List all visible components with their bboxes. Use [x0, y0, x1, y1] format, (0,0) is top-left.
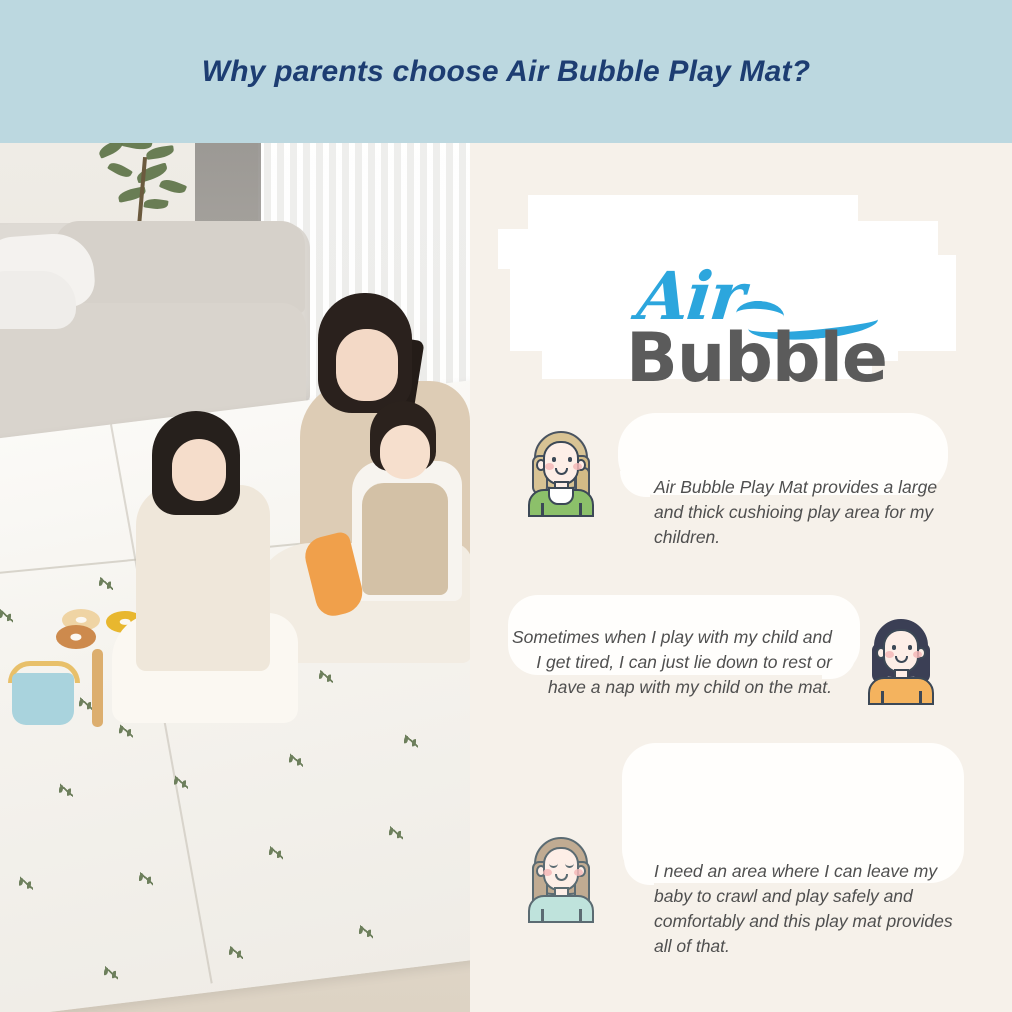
testimonial-2: Sometimes when I play with my child and …: [470, 595, 1012, 735]
avatar-1: [528, 429, 594, 515]
infographic-page: Why parents choose Air Bubble Play Mat?: [0, 0, 1012, 1012]
testimonial-1-quote: Air Bubble Play Mat provides a large and…: [654, 475, 960, 550]
photo-toy-bucket: [12, 673, 74, 725]
testimonial-3-quote: I need an area where I can leave my baby…: [654, 859, 974, 958]
photo-toy-ring-2: [56, 625, 96, 649]
right-panel: Air Bubble: [470, 143, 1012, 1012]
brand-logo: Air Bubble: [498, 195, 968, 395]
testimonial-1: Air Bubble Play Mat provides a large and…: [470, 413, 1012, 553]
speech-bubble-3-tail: [624, 859, 654, 885]
avatar-2: [868, 617, 934, 703]
page-title: Why parents choose Air Bubble Play Mat?: [202, 55, 810, 89]
speech-bubble-1-tail: [620, 471, 650, 497]
photo-toy-stacking-post: [92, 649, 103, 727]
photo-cushion-2: [0, 271, 76, 329]
avatar-3: [528, 835, 594, 921]
testimonial-3: I need an area where I can leave my baby…: [470, 743, 1012, 923]
header-banner: Why parents choose Air Bubble Play Mat?: [0, 0, 1012, 143]
testimonial-2-quote: Sometimes when I play with my child and …: [510, 625, 832, 700]
lifestyle-photo: [0, 143, 470, 1012]
logo-bubble-text: Bubble: [626, 319, 887, 398]
